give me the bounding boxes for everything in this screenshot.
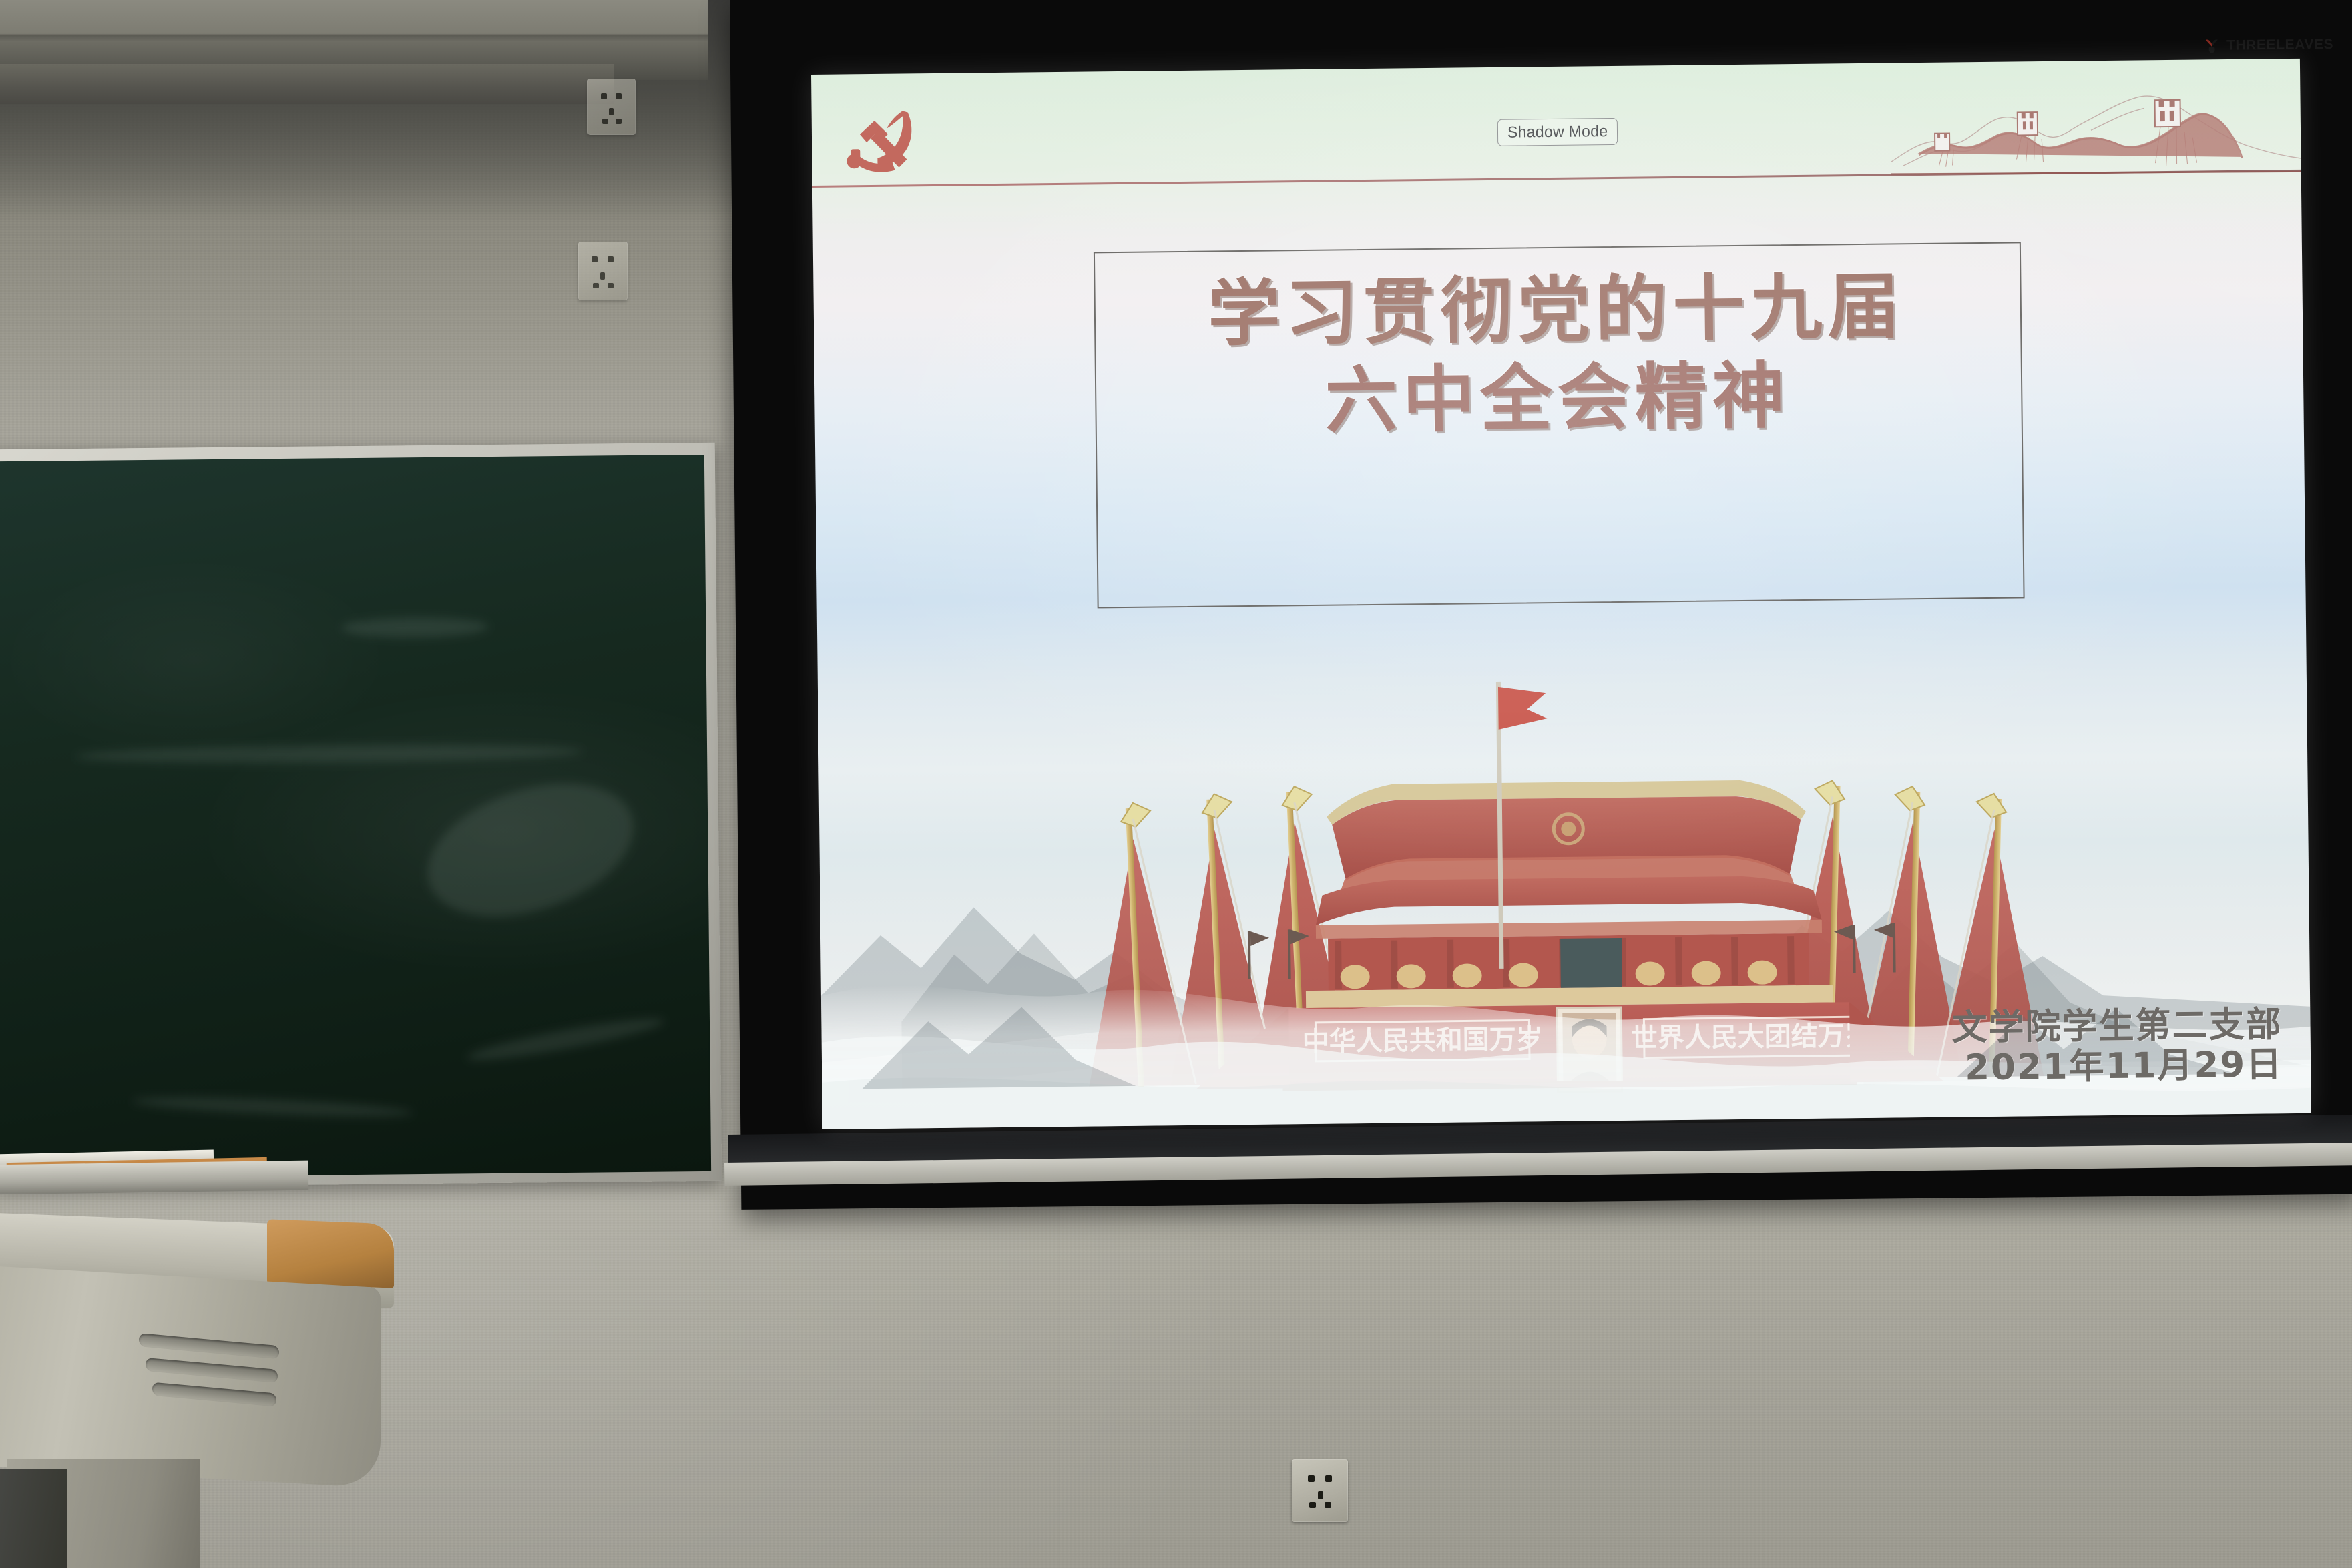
wall-socket-lower-icon [1292, 1459, 1348, 1522]
threeleaves-logo-icon [2203, 38, 2220, 54]
lectern [0, 1220, 421, 1568]
presentation-slide: Shadow Mode 学习贯彻党的十九届 六中全会精神 [811, 59, 2311, 1129]
projector-brand: THREELEAVES [2203, 37, 2333, 54]
shadow-mode-badge[interactable]: Shadow Mode [1497, 118, 1618, 146]
blackboard [0, 443, 722, 1188]
classroom-photo-scene: THREELEAVES [0, 0, 2352, 1568]
lectern-wood-top [267, 1219, 394, 1288]
wall-socket-middle-icon [578, 242, 628, 300]
title-line-1: 学习贯彻党的十九届 [1094, 262, 2019, 360]
blackboard-surface [0, 455, 711, 1178]
footer-organization: 文学院学生第二支部 [1951, 1005, 2283, 1049]
cpc-hammer-sickle-emblem-icon [843, 104, 923, 184]
footer-date: 2021年11月29日 [1952, 1045, 2283, 1088]
lectern-body [0, 1265, 381, 1488]
wall-socket-upper-icon [587, 79, 636, 135]
great-wall-line-art-icon [1890, 77, 2305, 182]
projector-brand-label: THREELEAVES [2226, 37, 2333, 54]
lectern-column-shadow [0, 1469, 67, 1568]
title-line-2: 六中全会精神 [1095, 350, 2020, 448]
wall-soffit-lower [0, 64, 614, 104]
chalk-tray [0, 1161, 308, 1195]
slide-footer: 文学院学生第二支部 2021年11月29日 [1951, 1005, 2283, 1088]
slide-title: 学习贯彻党的十九届 六中全会精神 [1094, 262, 2020, 447]
